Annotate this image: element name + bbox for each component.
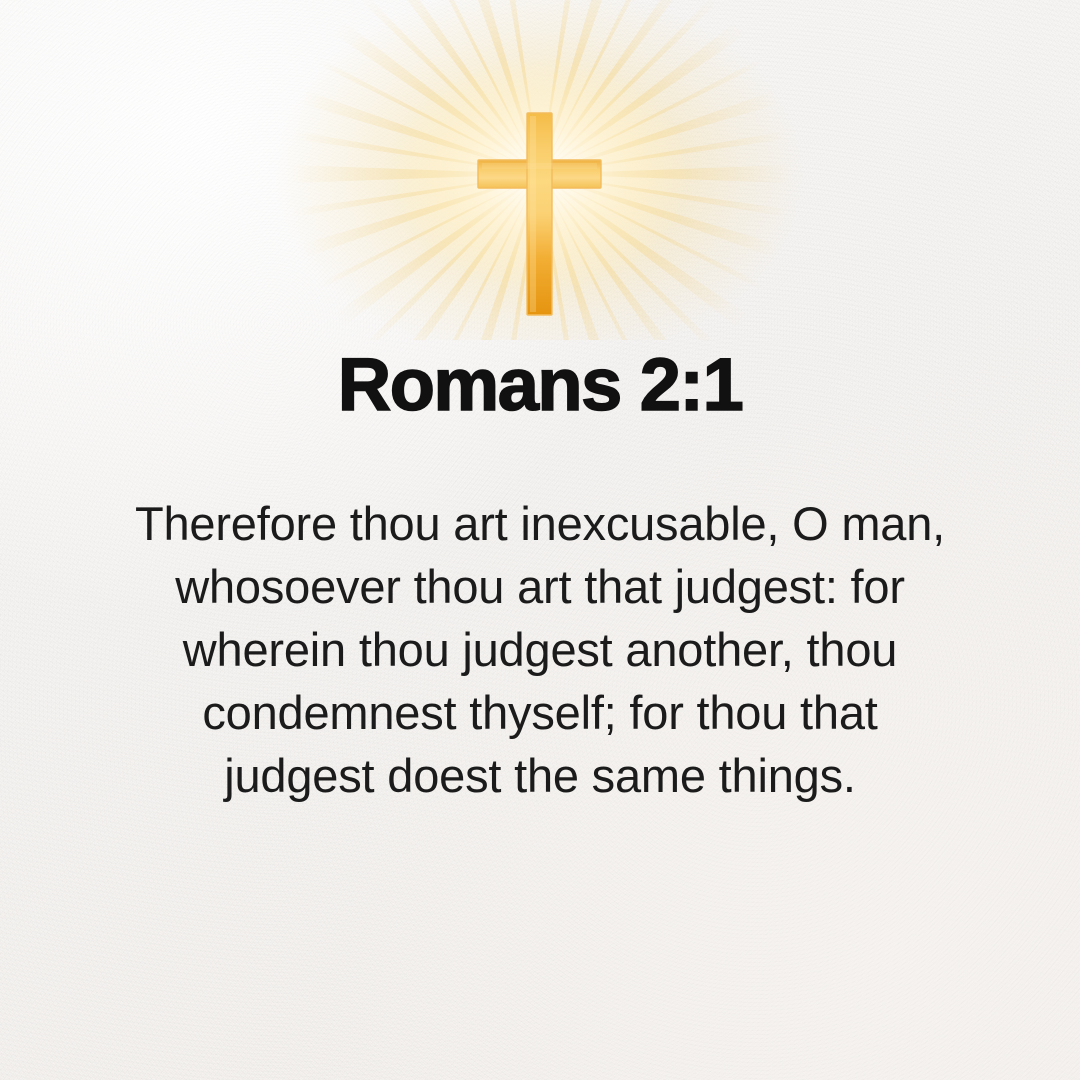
verse-text-block: Therefore thou art inexcusable, O man, w… xyxy=(90,492,990,807)
verse-line: wherein thou judgest another, thou xyxy=(90,618,990,681)
cross-emblem xyxy=(0,0,1080,340)
verse-line: condemnest thyself; for thou that xyxy=(90,681,990,744)
verse-reference-title: Romans 2:1 xyxy=(0,348,1080,422)
golden-cross-icon xyxy=(0,0,1080,340)
verse-line: judgest doest the same things. xyxy=(90,744,990,807)
verse-card: Romans 2:1 Therefore thou art inexcusabl… xyxy=(0,0,1080,1080)
verse-line: Therefore thou art inexcusable, O man, xyxy=(90,492,990,555)
verse-line: whosoever thou art that judgest: for xyxy=(90,555,990,618)
